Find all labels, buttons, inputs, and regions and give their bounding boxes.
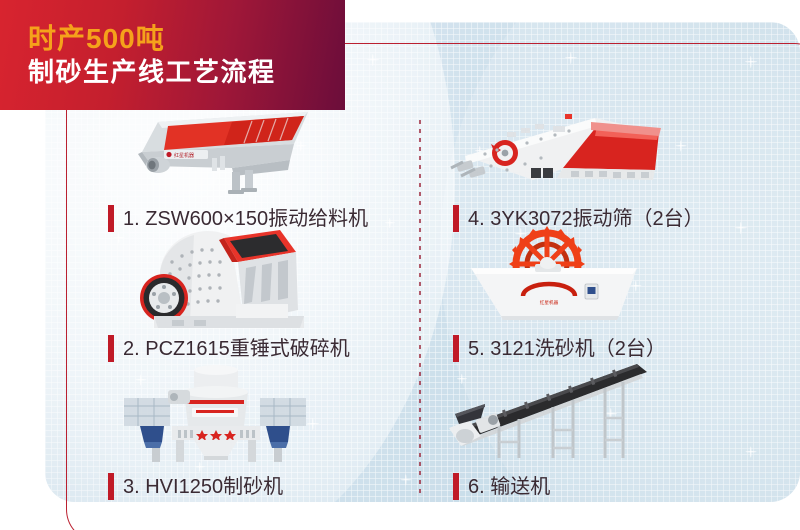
svg-text:红星机器: 红星机器 <box>540 299 559 306</box>
title-banner: 时产500吨 制砂生产线工艺流程 <box>0 0 345 110</box>
hammer-crusher-icon <box>90 224 430 324</box>
equipment-label: 2. PCZ1615重锤式破碎机 <box>123 339 350 359</box>
equipment-item[interactable]: 2. PCZ1615重锤式破碎机 <box>90 224 430 364</box>
equipment-label: 5. 3121洗砂机（2台） <box>468 339 666 359</box>
sand-washer-icon: 红星机器 <box>435 224 775 324</box>
banner-title-secondary: 制砂生产线工艺流程 <box>28 56 345 89</box>
equipment-caption: 5. 3121洗砂机（2台） <box>453 335 666 362</box>
equipment-caption: 3. HVI1250制砂机 <box>108 473 283 500</box>
caption-marker <box>108 473 114 500</box>
banner-title-primary: 时产500吨 <box>28 22 345 56</box>
caption-marker <box>453 473 459 500</box>
equipment-label: 6. 输送机 <box>468 477 550 497</box>
caption-marker <box>108 335 114 362</box>
belt-conveyor-icon <box>435 362 775 462</box>
svg-text:红星机器: 红星机器 <box>174 152 194 159</box>
vibrating-screen-icon <box>435 94 775 194</box>
equipment-item[interactable]: 红星机器 5. 3121洗砂机（2台） <box>435 224 775 364</box>
equipment-item[interactable]: 3. HVI1250制砂机 <box>90 362 430 502</box>
equipment-item[interactable]: 4. 3YK3072振动筛（2台） <box>435 94 775 234</box>
equipment-caption: 6. 输送机 <box>453 473 550 500</box>
caption-marker <box>453 335 459 362</box>
equipment-label: 3. HVI1250制砂机 <box>123 477 283 497</box>
process-flow-poster: 红星机器 <box>0 0 800 530</box>
equipment-item[interactable]: 6. 输送机 <box>435 362 775 502</box>
sand-making-machine-icon <box>90 362 430 462</box>
equipment-caption: 2. PCZ1615重锤式破碎机 <box>108 335 350 362</box>
equipment-item[interactable]: 红星机器 <box>90 94 430 234</box>
